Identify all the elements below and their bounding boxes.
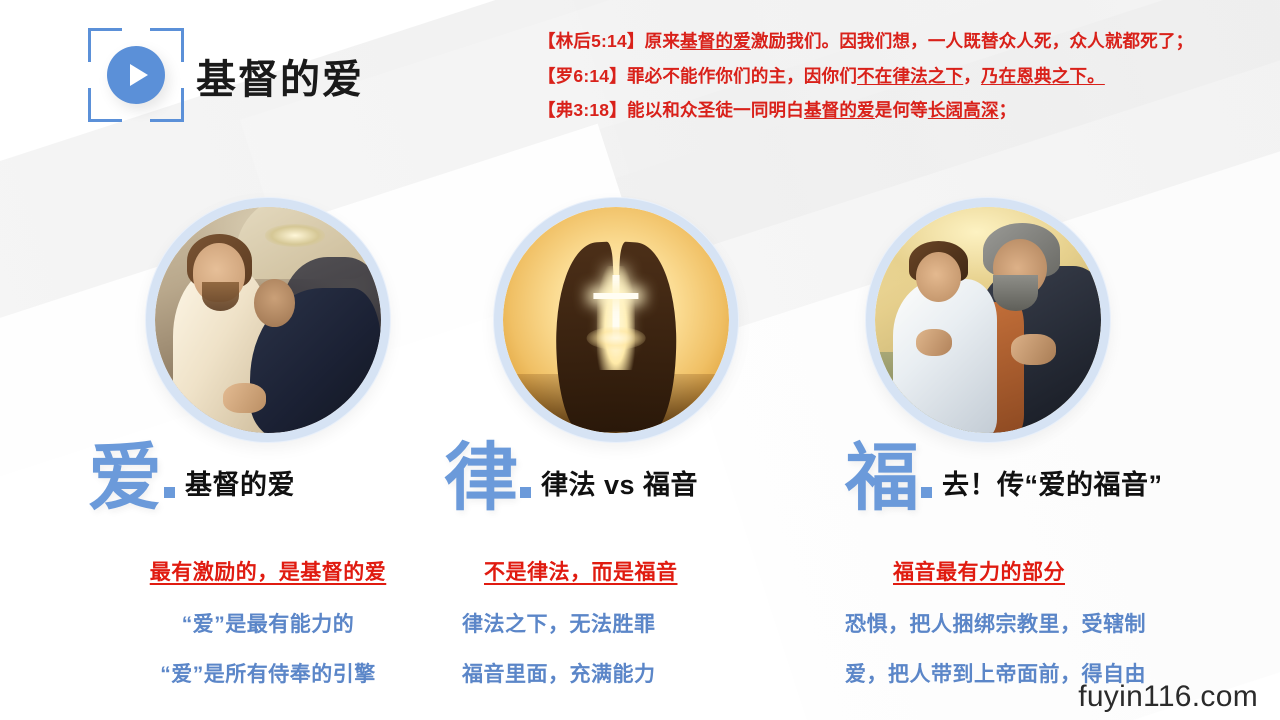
text-column-3: 福音最有力的部分 恐惧，把人捆绑宗教里，受辖制 爱，把人带到上帝面前，得自由 — [845, 556, 1265, 688]
verse-text: 原来 — [645, 31, 680, 51]
verse-text: ； — [999, 100, 1017, 120]
verse-reference: 【罗6:14】 — [538, 66, 627, 86]
column-line-2a: 律法之下，无法胜罪 — [462, 608, 812, 638]
verse-text: 能以和众圣徒一同明白 — [627, 100, 804, 120]
verse-text: 罪必不能作你们的主，因你们 — [627, 66, 857, 86]
big-character-1: 爱 — [88, 444, 162, 512]
verse-text: 是何等 — [875, 100, 928, 120]
column-heading-1: 最有激励的，是基督的爱 — [88, 556, 448, 586]
key-label-2: 律法 vs 福音 — [541, 463, 698, 512]
big-character-3: 福 — [845, 444, 919, 512]
verse-emphasis: 基督的爱 — [680, 31, 751, 51]
verse-2: 【罗6:14】罪必不能作你们的主，因你们不在律法之下，乃在恩典之下。 — [538, 63, 1266, 90]
key-point-2: 律 律法 vs 福音 — [444, 444, 698, 512]
praying-hands-with-cross-photo — [494, 198, 738, 442]
verse-emphasis: 长阔高深 — [928, 100, 999, 120]
key-point-1: 爱 基督的爱 — [88, 444, 295, 512]
verse-reference: 【林后5:14】 — [538, 31, 645, 51]
key-point-row: 爱 基督的爱 律 律法 vs 福音 福 去！传“爱的福音” — [0, 444, 1280, 540]
verse-emphasis: 乃在恩典之下。 — [981, 66, 1105, 86]
key-point-3: 福 去！传“爱的福音” — [845, 444, 1163, 512]
key-label-3: 去！传“爱的福音” — [942, 463, 1163, 512]
verse-text: ， — [963, 66, 981, 86]
verse-3: 【弗3:18】能以和众圣徒一同明白基督的爱是何等长阔高深； — [538, 97, 1266, 124]
verse-1: 【林后5:14】原来基督的爱激励我们。因我们想，一人既替众人死，众人就都死了； — [538, 28, 1266, 55]
square-bullet-icon — [164, 487, 175, 498]
verse-emphasis: 基督的爱 — [804, 100, 875, 120]
key-label-1: 基督的爱 — [185, 463, 295, 512]
slide-header: 基督的爱 【林后5:14】原来基督的爱激励我们。因我们想，一人既替众人死，众人就… — [0, 0, 1280, 175]
page-title: 基督的爱 — [196, 47, 364, 105]
column-line-1b: “爱”是所有侍奉的引擎 — [88, 658, 448, 688]
text-column-2: 不是律法，而是福音 律法之下，无法胜罪 福音里面，充满能力 — [462, 556, 812, 688]
slide-canvas: 基督的爱 【林后5:14】原来基督的爱激励我们。因我们想，一人既替众人死，众人就… — [0, 0, 1280, 720]
column-line-1a: “爱”是最有能力的 — [88, 608, 448, 638]
two-apostles-running-photo — [866, 198, 1110, 442]
column-line-3a: 恐惧，把人捆绑宗教里，受辖制 — [845, 608, 1265, 638]
verse-emphasis: 不在律法之下 — [857, 66, 963, 86]
column-line-2b: 福音里面，充满能力 — [462, 658, 812, 688]
square-bullet-icon — [520, 487, 531, 498]
verse-reference: 【弗3:18】 — [538, 100, 627, 120]
big-character-2: 律 — [444, 444, 518, 512]
play-triangle-icon — [130, 64, 148, 86]
image-row — [0, 196, 1280, 446]
column-heading-2: 不是律法，而是福音 — [484, 556, 812, 586]
jesus-comforting-man-photo — [146, 198, 390, 442]
verse-text: 激励我们。因我们想，一人既替众人死，众人就都死了； — [751, 31, 1194, 51]
play-button-icon — [88, 28, 184, 122]
site-watermark: fuyin116.com — [1078, 680, 1258, 714]
play-circle-icon — [107, 46, 165, 104]
square-bullet-icon — [921, 487, 932, 498]
column-heading-3: 福音最有力的部分 — [893, 556, 1265, 586]
scripture-block: 【林后5:14】原来基督的爱激励我们。因我们想，一人既替众人死，众人就都死了； … — [538, 28, 1266, 124]
text-column-1: 最有激励的，是基督的爱 “爱”是最有能力的 “爱”是所有侍奉的引擎 — [88, 556, 448, 688]
